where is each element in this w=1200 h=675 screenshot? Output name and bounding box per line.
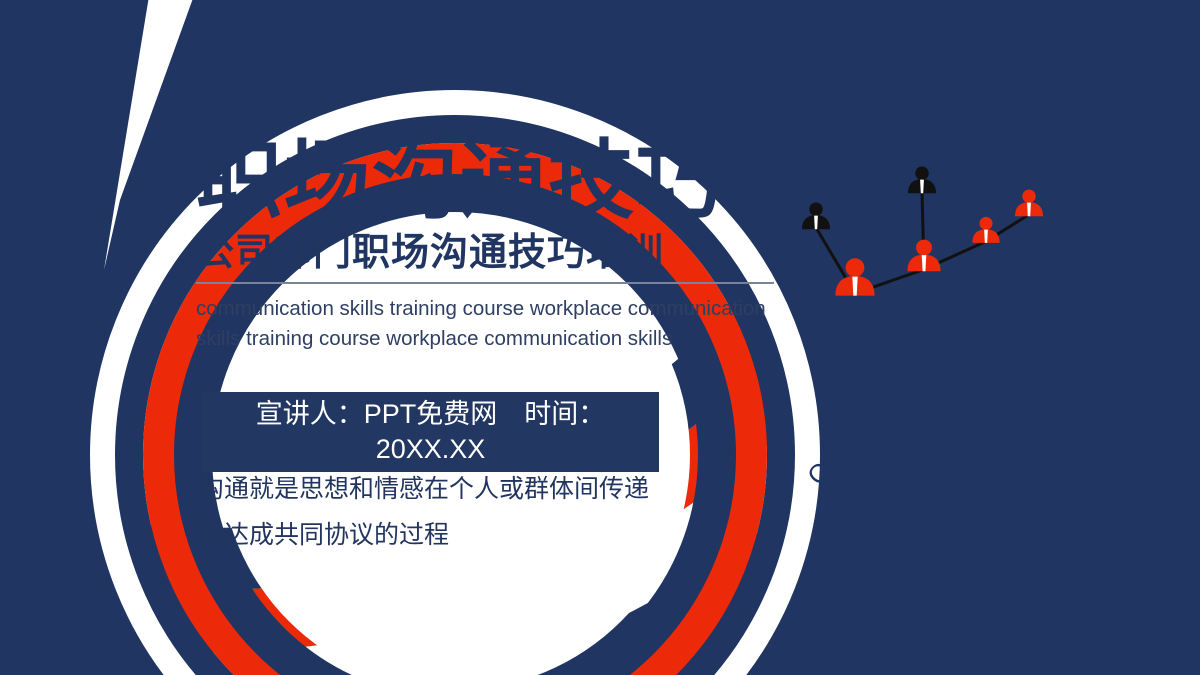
person-icon bbox=[907, 240, 940, 272]
person-icon bbox=[972, 217, 999, 243]
subtitle-english: communication skills training course wor… bbox=[196, 294, 776, 352]
title-block: 职场沟通技巧 公司部门职场沟通技巧培训 communication skills… bbox=[196, 138, 796, 353]
person-icon bbox=[1015, 189, 1043, 216]
person-icon bbox=[908, 166, 936, 193]
tagline-block: 沟通就是思想和情感在个人或群体间传递 并达成共同协议的过程 bbox=[199, 466, 759, 559]
subtitle-chinese: 公司部门职场沟通技巧培训 bbox=[196, 232, 796, 276]
tagline-line-1: 沟通就是思想和情感在个人或群体间传递 bbox=[199, 466, 759, 512]
speaker-info-text: 宣讲人：PPT免费网 时间：20XX.XX bbox=[216, 397, 645, 466]
person-icon bbox=[835, 258, 874, 295]
title-divider bbox=[196, 282, 774, 284]
presentation-slide: 职场沟通技巧 公司部门职场沟通技巧培训 communication skills… bbox=[0, 0, 1200, 675]
slide-content: 职场沟通技巧 公司部门职场沟通技巧培训 communication skills… bbox=[0, 0, 1200, 675]
people-network-diagram bbox=[790, 160, 1075, 345]
page-title: 职场沟通技巧 bbox=[196, 138, 796, 226]
tagline-line-2: 并达成共同协议的过程 bbox=[199, 512, 759, 558]
person-icon bbox=[802, 202, 830, 229]
speaker-info-box: 宣讲人：PPT免费网 时间：20XX.XX bbox=[202, 392, 659, 472]
